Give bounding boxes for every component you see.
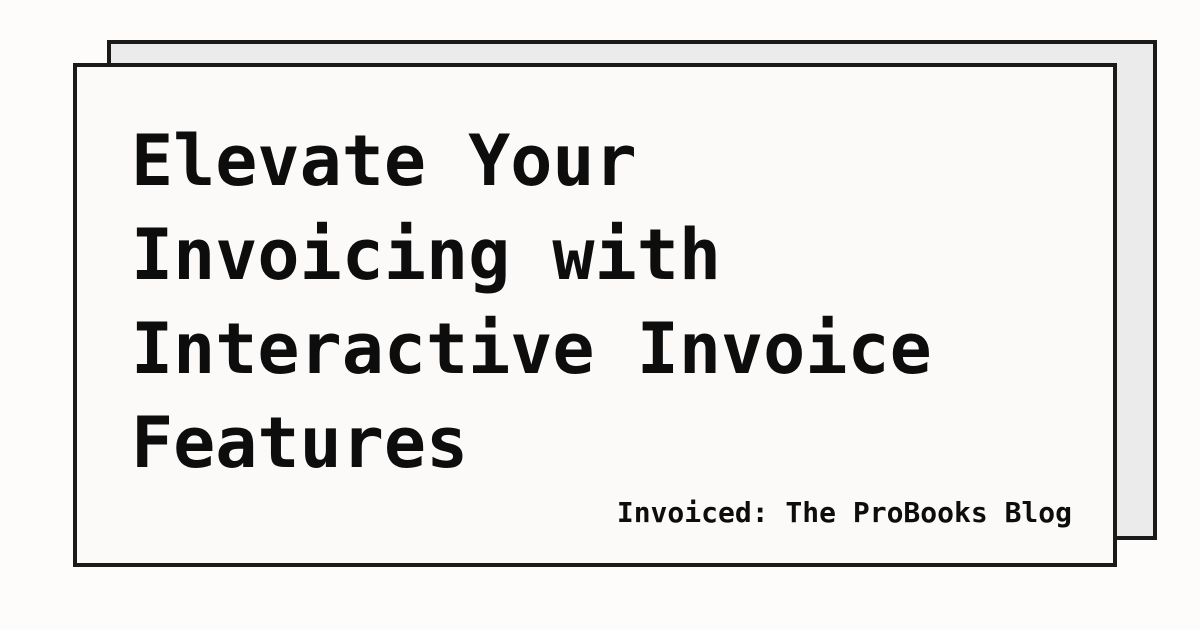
blog-attribution-label: Invoiced: The ProBooks Blog [617, 496, 1072, 530]
card-content: Elevate Your Invoicing with Interactive … [77, 67, 1113, 563]
social-card-canvas: Elevate Your Invoicing with Interactive … [0, 0, 1200, 630]
page-title: Elevate Your Invoicing with Interactive … [131, 114, 1072, 490]
card-footer: Invoiced: The ProBooks Blog [131, 496, 1072, 563]
blog-title-card: Elevate Your Invoicing with Interactive … [73, 63, 1117, 567]
